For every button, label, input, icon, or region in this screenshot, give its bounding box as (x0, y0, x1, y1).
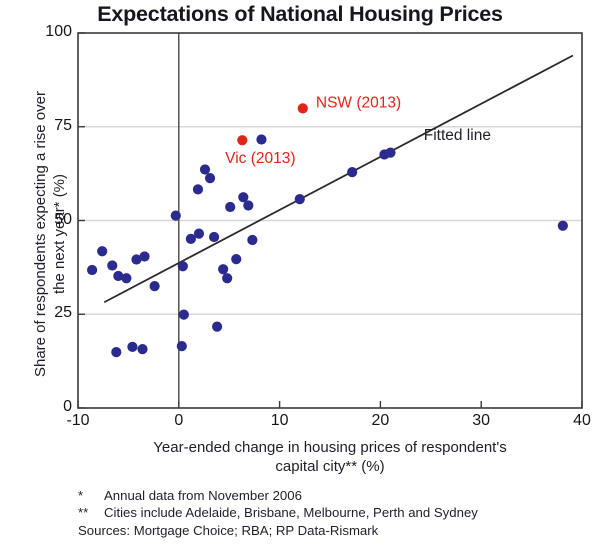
chart-figure: Expectations of National Housing Prices … (0, 0, 600, 546)
data-point (205, 173, 215, 183)
footnote-text: Cities include Adelaide, Brisbane, Melbo… (104, 504, 478, 521)
data-point (256, 134, 266, 144)
data-point (298, 103, 308, 113)
data-point (218, 264, 228, 274)
data-point (178, 261, 188, 271)
series-red-points (237, 103, 308, 145)
footnote-row: Sources: Mortgage Choice; RBA; RP Data-R… (78, 522, 598, 539)
annotation-nsw-2013: NSW (2013) (316, 95, 401, 112)
data-point (179, 310, 189, 320)
series-blue-points (87, 134, 568, 357)
data-point (107, 260, 117, 270)
data-point (247, 235, 257, 245)
data-point (237, 135, 247, 145)
data-point (127, 342, 137, 352)
data-point (137, 344, 147, 354)
data-point (97, 246, 107, 256)
data-point (111, 347, 121, 357)
data-point (347, 167, 357, 177)
data-point (385, 148, 395, 158)
x-axis-label-line2: capital city** (%) (78, 457, 582, 476)
data-point (194, 229, 204, 239)
data-point (150, 281, 160, 291)
data-point (193, 184, 203, 194)
footnotes: *Annual data from November 2006**Cities … (78, 487, 598, 539)
data-point (225, 202, 235, 212)
footnote-marker: ** (78, 504, 104, 521)
data-point (558, 221, 568, 231)
data-point (121, 273, 131, 283)
x-axis-label: Year-ended change in housing prices of r… (78, 438, 582, 476)
footnote-marker: * (78, 487, 104, 504)
footnote-text: Sources: Mortgage Choice; RBA; RP Data-R… (78, 522, 378, 539)
data-point (177, 341, 187, 351)
data-point (243, 200, 253, 210)
data-point (139, 251, 149, 261)
data-point (295, 194, 305, 204)
annotation-vic-2013: Vic (2013) (225, 150, 295, 167)
data-point (222, 273, 232, 283)
footnote-row: *Annual data from November 2006 (78, 487, 598, 504)
data-point (171, 211, 181, 221)
footnote-text: Annual data from November 2006 (104, 487, 302, 504)
fitted-line (104, 56, 573, 303)
data-point (209, 232, 219, 242)
data-point (212, 322, 222, 332)
footnote-row: **Cities include Adelaide, Brisbane, Mel… (78, 504, 598, 521)
data-point (200, 164, 210, 174)
x-axis-label-line1: Year-ended change in housing prices of r… (78, 438, 582, 457)
data-point (231, 254, 241, 264)
data-point (87, 265, 97, 275)
annotation-fitted-line: Fitted line (424, 127, 491, 144)
